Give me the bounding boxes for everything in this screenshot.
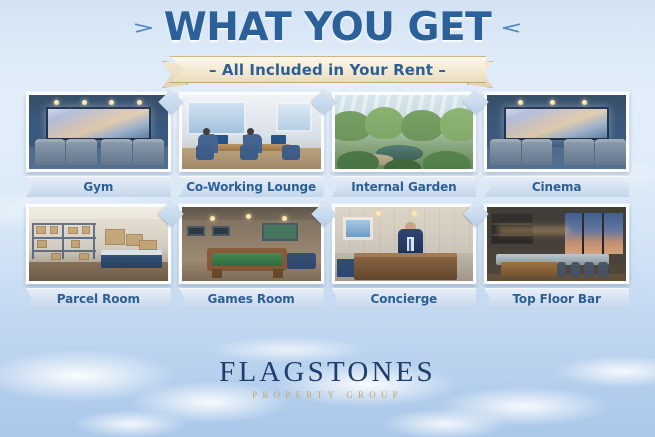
- brand-subtitle: PROPERTY GROUP: [0, 391, 655, 400]
- amenity-photo-parcel-room: [29, 207, 168, 281]
- amenity-tile-co-working-lounge[interactable]: Co-Working Lounge: [179, 92, 324, 197]
- amenity-label-bar: Games Room: [179, 288, 324, 309]
- amenity-label-bar: Internal Garden: [332, 176, 477, 197]
- photo-frame: [179, 204, 324, 284]
- photo-frame: [26, 92, 171, 172]
- brand-name: FLAGSTONES: [0, 358, 655, 387]
- photo-frame: [179, 92, 324, 172]
- amenity-photo-internal-garden: [335, 95, 474, 169]
- amenity-label: Top Floor Bar: [512, 292, 600, 306]
- ribbon-label: – All Included in Your Rent –: [209, 61, 446, 79]
- photo-frame: [484, 92, 629, 172]
- amenity-label-bar: Gym: [26, 176, 171, 197]
- amenity-grid: Gym: [26, 92, 629, 309]
- amenity-tile-concierge[interactable]: Concierge: [332, 204, 477, 309]
- amenity-photo-concierge: [335, 207, 474, 281]
- amenity-label: Co-Working Lounge: [186, 180, 316, 194]
- photo-frame: [26, 204, 171, 284]
- amenity-label-bar: Parcel Room: [26, 288, 171, 309]
- amenity-label: Games Room: [208, 292, 295, 306]
- title-right-flourish-icon: [500, 17, 522, 39]
- title-block: WHAT YOU GET: [0, 8, 655, 49]
- amenity-label-bar: Co-Working Lounge: [179, 176, 324, 197]
- amenity-label-bar: Concierge: [332, 288, 477, 309]
- amenity-tile-cinema[interactable]: Cinema: [484, 92, 629, 197]
- photo-frame: [332, 204, 477, 284]
- amenity-tile-games-room[interactable]: Games Room: [179, 204, 324, 309]
- amenity-photo-games-room: [182, 207, 321, 281]
- brand-logo: FLAGSTONES PROPERTY GROUP: [0, 358, 655, 400]
- amenity-label: Cinema: [532, 180, 582, 194]
- amenity-label-bar: Top Floor Bar: [484, 288, 629, 309]
- amenity-label: Internal Garden: [351, 180, 456, 194]
- page-title: WHAT YOU GET: [164, 8, 492, 49]
- amenity-tile-gym[interactable]: Gym: [26, 92, 171, 197]
- ribbon-body: – All Included in Your Rent –: [169, 56, 486, 83]
- amenity-tile-parcel-room[interactable]: Parcel Room: [26, 204, 171, 309]
- amenity-photo-top-floor-bar: [487, 207, 626, 281]
- amenity-row: Parcel Room: [26, 204, 629, 309]
- photo-frame: [484, 204, 629, 284]
- title-left-flourish-icon: [133, 17, 155, 39]
- amenity-photo-cinema: [487, 95, 626, 169]
- amenity-label: Concierge: [371, 292, 438, 306]
- amenity-tile-internal-garden[interactable]: Internal Garden: [332, 92, 477, 197]
- amenity-label: Parcel Room: [57, 292, 140, 306]
- amenity-row: Gym: [26, 92, 629, 197]
- amenity-label: Gym: [83, 180, 113, 194]
- amenity-label-bar: Cinema: [484, 176, 629, 197]
- amenity-photo-gym: [29, 95, 168, 169]
- amenity-tile-top-floor-bar[interactable]: Top Floor Bar: [484, 204, 629, 309]
- poster-canvas: WHAT YOU GET – All Included in Your Rent…: [0, 0, 655, 437]
- photo-frame: [332, 92, 477, 172]
- amenity-photo-co-working-lounge: [182, 95, 321, 169]
- subtitle-ribbon: – All Included in Your Rent –: [0, 56, 655, 83]
